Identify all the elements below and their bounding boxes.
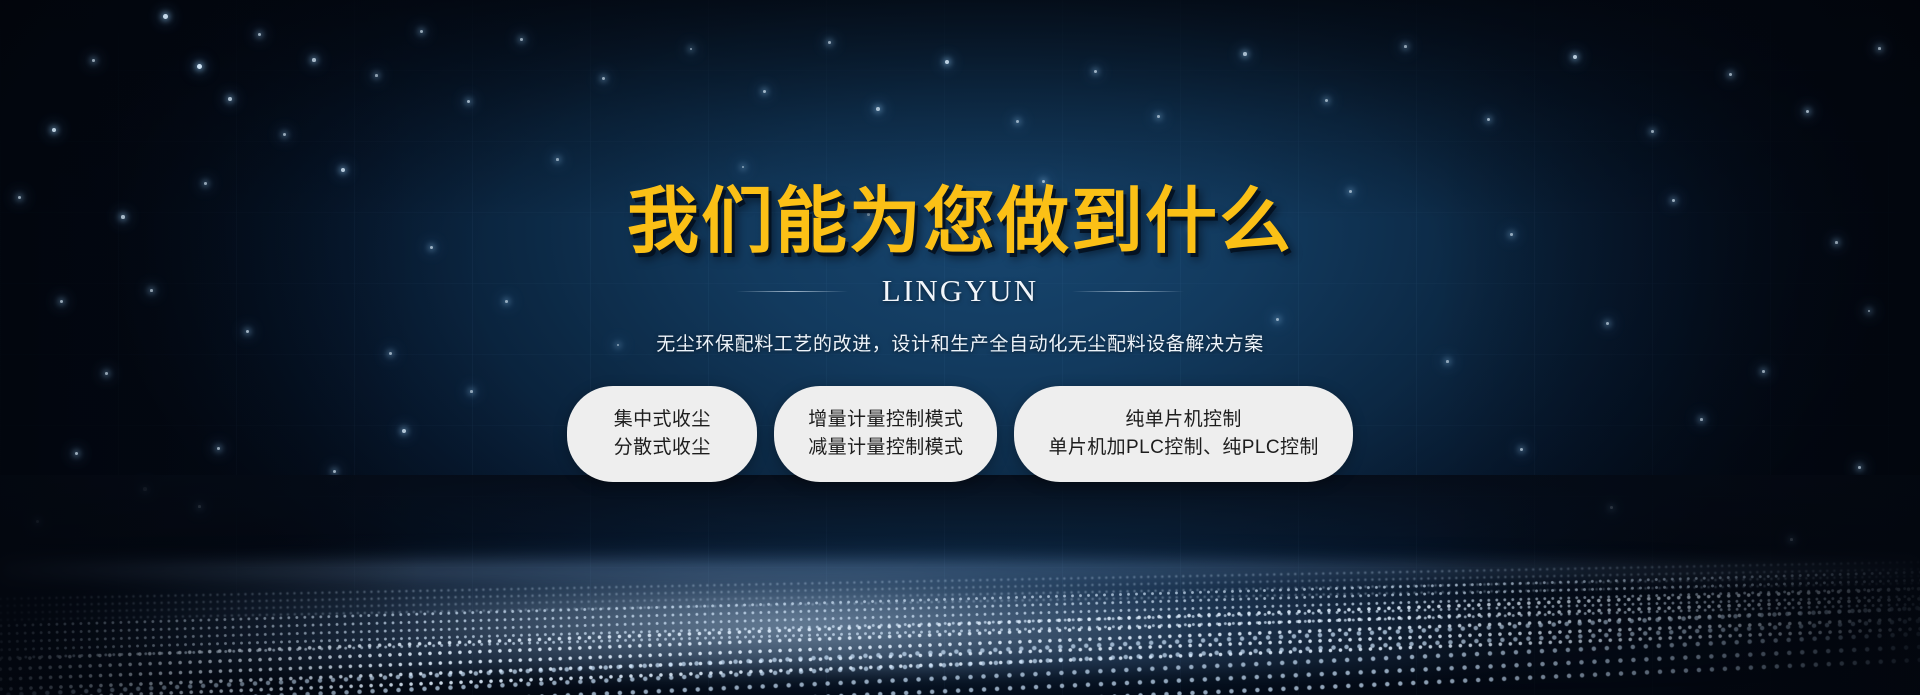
pill-line: 集中式收尘 [614, 410, 711, 431]
pill-line: 减量计量控制模式 [808, 438, 963, 459]
brand-row: LINGYUN [736, 273, 1185, 309]
pill-line: 单片机加PLC控制、纯PLC控制 [1048, 438, 1318, 459]
feature-pill-metering-mode[interactable]: 增量计量控制模式 减量计量控制模式 [774, 386, 997, 482]
pill-line: 增量计量控制模式 [808, 410, 963, 431]
divider-left [736, 291, 848, 292]
pill-line: 纯单片机控制 [1125, 410, 1241, 431]
banner-content: 我们能为您做到什么 LINGYUN 无尘环保配料工艺的改进，设计和生产全自动化无… [0, 0, 1920, 695]
hero-banner: 我们能为您做到什么 LINGYUN 无尘环保配料工艺的改进，设计和生产全自动化无… [0, 0, 1920, 695]
pill-line: 分散式收尘 [614, 438, 711, 459]
tagline: 无尘环保配料工艺的改进，设计和生产全自动化无尘配料设备解决方案 [656, 329, 1264, 356]
feature-pill-group: 集中式收尘 分散式收尘 增量计量控制模式 减量计量控制模式 纯单片机控制 单片机… [567, 386, 1353, 482]
page-title: 我们能为您做到什么 [627, 186, 1293, 259]
divider-right [1072, 291, 1184, 292]
feature-pill-control-system[interactable]: 纯单片机控制 单片机加PLC控制、纯PLC控制 [1014, 386, 1352, 482]
feature-pill-dust-collection[interactable]: 集中式收尘 分散式收尘 [567, 386, 757, 482]
brand-name: LINGYUN [882, 273, 1039, 309]
